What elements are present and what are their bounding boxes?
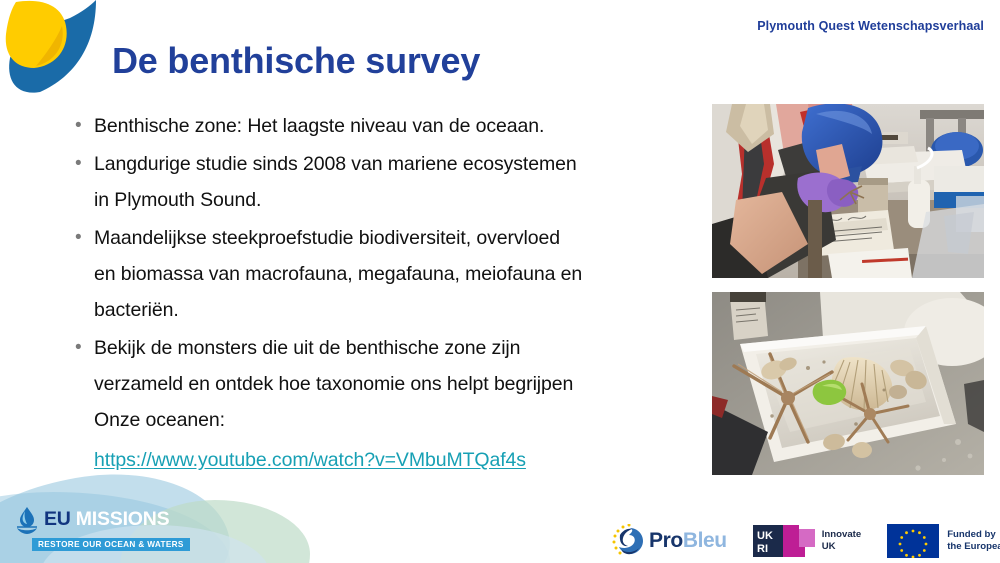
- bullet-text: Maandelijkse steekproefstudie biodiversi…: [94, 220, 697, 328]
- innovate-uk-line-1: Innovate: [822, 529, 861, 540]
- svg-text:RI: RI: [757, 543, 768, 555]
- funded-by-eu-caption: Funded bythe European Union: [947, 529, 1000, 554]
- probleu-pro-text: Pro: [649, 529, 683, 552]
- photo-scientists-sorting-samples: [712, 104, 984, 278]
- bullet-dot-icon: •: [72, 146, 94, 182]
- ukri-innovate-uk-logo: UK RI InnovateUK: [753, 525, 861, 557]
- bullet-text: Bekijk de monsters die uit de benthische…: [94, 330, 697, 438]
- bullet-line: in Plymouth Sound.: [94, 189, 261, 211]
- eu-missions-tagline: RESTORE OUR OCEAN & WATERS: [32, 538, 190, 551]
- bullet-line: verzameld en ontdek hoe taxonomie ons he…: [94, 373, 573, 395]
- bullet-text: Langdurige studie sinds 2008 van mariene…: [94, 146, 697, 218]
- bullet-list: • Benthische zone: Het laagste niveau va…: [72, 108, 697, 480]
- eu-missions-eu-text: EU: [44, 510, 71, 530]
- bullet-line: Langdurige studie sinds 2008 van mariene…: [94, 153, 577, 175]
- innovate-uk-caption: InnovateUK: [822, 529, 861, 554]
- bullet-dot-icon: •: [72, 330, 94, 366]
- probleu-bleu-text: Bleu: [683, 529, 727, 552]
- slide-canvas: Plymouth Quest Wetenschapsverhaal De ben…: [0, 0, 1000, 563]
- bullet-dot-icon: •: [72, 220, 94, 256]
- innovate-uk-line-2: UK: [822, 541, 836, 552]
- bullet-line: bacteriën.: [94, 299, 179, 321]
- water-drop-icon: [14, 506, 40, 534]
- youtube-video-link[interactable]: https://www.youtube.com/watch?v=VMbuMTQa…: [94, 442, 697, 478]
- header-story-label: Plymouth Quest Wetenschapsverhaal: [757, 19, 984, 33]
- bullet-text: Benthische zone: Het laagste niveau van …: [94, 108, 697, 144]
- list-item: • Benthische zone: Het laagste niveau va…: [72, 108, 697, 144]
- bullet-line: Onze oceanen:: [94, 409, 225, 431]
- list-item: • Langdurige studie sinds 2008 van marie…: [72, 146, 697, 218]
- list-item-link[interactable]: • https://www.youtube.com/watch?v=VMbuMT…: [72, 442, 697, 478]
- funded-by-eu-line-2: the European Union: [947, 541, 1000, 552]
- page-title: De benthische survey: [112, 40, 480, 82]
- eu-missions-logo: EU MISSIONS RESTORE OUR OCEAN & WATERS: [14, 506, 190, 552]
- ukri-mark-icon: UK RI: [753, 525, 815, 557]
- funded-by-eu-logo: Funded bythe European Union: [887, 524, 1000, 558]
- funded-by-eu-line-1: Funded by: [947, 529, 996, 540]
- probleu-globe-icon: [612, 524, 646, 558]
- bullet-line: en biomassa van macrofauna, megafauna, m…: [94, 263, 582, 285]
- list-item: • Maandelijkse steekproefstudie biodiver…: [72, 220, 697, 328]
- brand-shell-logo-icon: [4, 0, 114, 104]
- eu-missions-missions-text: MISSIONS: [76, 510, 170, 530]
- list-item: • Bekijk de monsters die uit de benthisc…: [72, 330, 697, 438]
- bullet-line: Maandelijkse steekproefstudie biodiversi…: [94, 227, 560, 249]
- eu-flag-icon: [887, 524, 939, 558]
- eu-missions-wordmark-row: EU MISSIONS: [14, 506, 190, 534]
- svg-text:UK: UK: [757, 530, 773, 542]
- footer-logo-strip: ProBleu UK RI InnovateUK: [612, 521, 1000, 561]
- bullet-line: Bekijk de monsters die uit de benthische…: [94, 337, 520, 359]
- bullet-dot-icon: •: [72, 108, 94, 144]
- probleu-wordmark: ProBleu: [649, 529, 727, 553]
- probleu-logo: ProBleu: [612, 524, 727, 558]
- photo-specimen-tray: [712, 292, 984, 475]
